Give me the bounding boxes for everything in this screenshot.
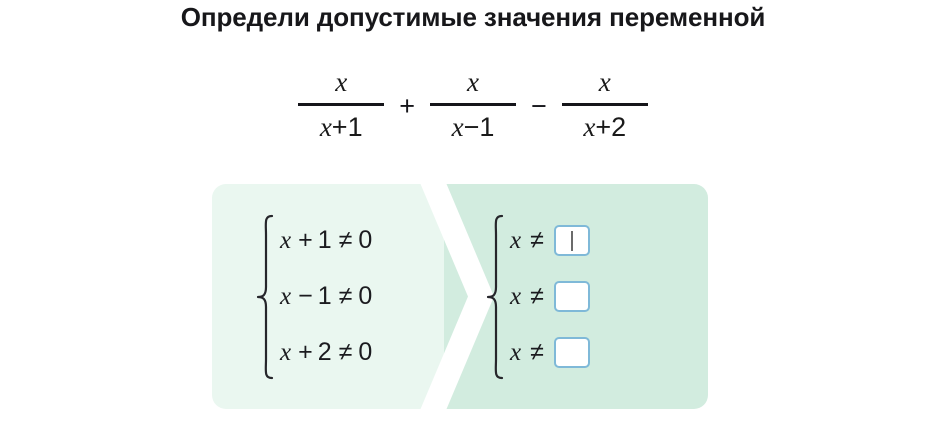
answer-relation: ≠ [523,338,550,367]
curly-brace-left-icon [254,213,276,381]
denominator-variable: x [320,112,332,142]
page-title: Определи допустимые значения переменной [0,2,946,33]
fraction-numerator: x [335,69,347,103]
condition-variable: x [280,283,293,311]
answers-system: x ≠ x ≠ x ≠ [484,184,590,409]
condition-value: 0 [358,226,372,255]
fraction-term-3: x x+2 [562,69,648,141]
denominator-number: 2 [611,112,626,142]
denominator-number: 1 [479,112,494,142]
text-cursor-caret-icon [571,231,573,251]
answer-card: x + 1 ≠ 0 x − 1 ≠ 0 x + 2 ≠ 0 [212,184,708,409]
answer-relation: ≠ [523,226,550,255]
math-expression: x x+1 + x x−1 − x x+2 [0,60,946,150]
fraction-term-1: x x+1 [298,69,384,141]
condition-row: x + 2 ≠ 0 [280,325,372,381]
condition-value: 0 [358,282,372,311]
fraction-term-2: x x−1 [430,69,516,141]
condition-sign: − [293,282,318,311]
fraction-denominator: x+2 [583,106,626,141]
denominator-variable: x [583,112,595,142]
answer-relation: ≠ [523,282,550,311]
condition-number: 1 [318,282,332,311]
operator-plus: + [399,93,415,120]
denominator-sign: + [595,112,611,142]
answers-rows: x ≠ x ≠ x ≠ [510,213,590,381]
answer-variable: x [510,339,523,367]
fraction-numerator: x [467,69,479,103]
denominator-variable: x [452,112,464,142]
denominator-number: 1 [348,112,363,142]
condition-sign: + [293,338,318,367]
condition-relation: ≠ [332,338,359,367]
operator-minus: − [531,93,547,120]
fraction-denominator: x+1 [320,106,363,141]
answer-row: x ≠ [510,269,590,325]
condition-relation: ≠ [332,226,359,255]
fraction-denominator: x−1 [452,106,495,141]
answer-input-2[interactable] [554,281,590,312]
condition-sign: + [293,226,318,255]
answer-variable: x [510,227,523,255]
answer-input-3[interactable] [554,337,590,368]
condition-relation: ≠ [332,282,359,311]
fraction-numerator: x [599,69,611,103]
conditions-system: x + 1 ≠ 0 x − 1 ≠ 0 x + 2 ≠ 0 [254,184,372,409]
answer-input-1[interactable] [554,225,590,256]
answer-row: x ≠ [510,213,590,269]
answer-row: x ≠ [510,325,590,381]
curly-brace-left-icon [484,213,506,381]
condition-variable: x [280,339,293,367]
condition-number: 1 [318,226,332,255]
denominator-sign: − [464,112,480,142]
answer-variable: x [510,283,523,311]
conditions-rows: x + 1 ≠ 0 x − 1 ≠ 0 x + 2 ≠ 0 [280,213,372,381]
condition-variable: x [280,227,293,255]
condition-number: 2 [318,338,332,367]
denominator-sign: + [332,112,348,142]
condition-row: x + 1 ≠ 0 [280,213,372,269]
condition-value: 0 [358,338,372,367]
condition-row: x − 1 ≠ 0 [280,269,372,325]
